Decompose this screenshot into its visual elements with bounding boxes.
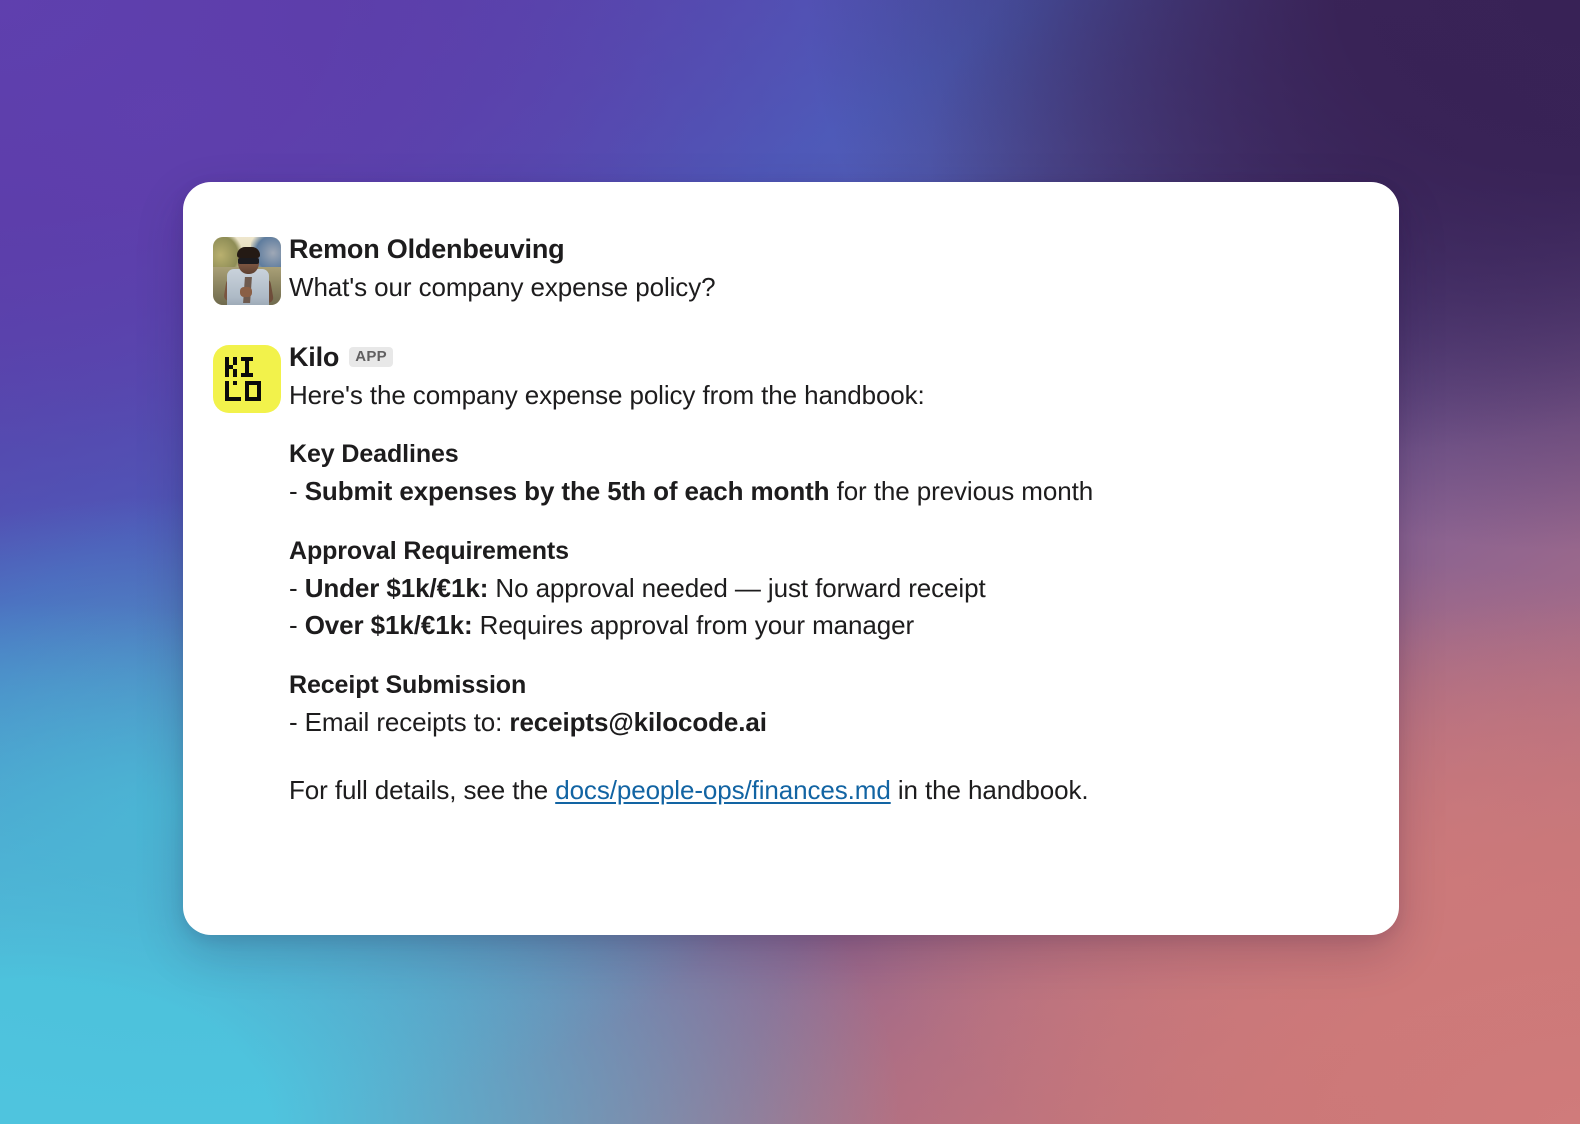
message-text: What's our company expense policy? xyxy=(289,269,1343,306)
message-user: Remon Oldenbeuving What's our company ex… xyxy=(213,234,1343,306)
footer-text-before: For full details, see the xyxy=(289,775,555,805)
section-receipt-submission: Receipt Submission - Email receipts to: … xyxy=(289,671,1343,742)
bullet-item: - Over $1k/€1k: Requires approval from y… xyxy=(289,607,1343,645)
section-key-deadlines: Key Deadlines - Submit expenses by the 5… xyxy=(289,440,1343,511)
bullet-strong: Submit expenses by the 5th of each month xyxy=(305,476,830,506)
bullet-item: - Email receipts to: receipts@kilocode.a… xyxy=(289,704,1343,742)
bullet-item: - Submit expenses by the 5th of each mon… xyxy=(289,473,1343,511)
avatar-photo-hand xyxy=(240,287,252,297)
sender-row: Kilo APP xyxy=(289,342,1343,373)
bullet-rest: Requires approval from your manager xyxy=(473,610,915,640)
bullet-rest: No approval needed — just forward receip… xyxy=(488,573,985,603)
footer-text-after: in the handbook. xyxy=(891,775,1089,805)
section-heading: Receipt Submission xyxy=(289,671,1343,700)
footer-line: For full details, see the docs/people-op… xyxy=(289,772,1343,809)
slack-message-card: Remon Oldenbeuving What's our company ex… xyxy=(183,182,1399,935)
section-heading: Key Deadlines xyxy=(289,440,1343,469)
kilo-logo-icon[interactable] xyxy=(213,345,281,413)
bullet-item: - Under $1k/€1k: No approval needed — ju… xyxy=(289,570,1343,608)
app-badge: APP xyxy=(349,347,393,367)
receipt-email: receipts@kilocode.ai xyxy=(509,707,766,737)
avatar[interactable] xyxy=(213,237,281,305)
bullet-rest: for the previous month xyxy=(829,476,1093,506)
section-heading: Approval Requirements xyxy=(289,537,1343,566)
avatar-column xyxy=(213,234,289,305)
message-body: Remon Oldenbeuving What's our company ex… xyxy=(289,234,1343,306)
avatar-photo-hair xyxy=(237,247,260,258)
response-intro: Here's the company expense policy from t… xyxy=(289,377,1343,414)
section-approval-requirements: Approval Requirements - Under $1k/€1k: N… xyxy=(289,537,1343,645)
bullet-lead: Email receipts to: xyxy=(298,707,510,737)
bullet-strong: Under $1k/€1k: xyxy=(305,573,489,603)
bullet-dash: - xyxy=(289,707,298,737)
bullet-dash: - xyxy=(289,610,298,640)
bullet-dash: - xyxy=(289,573,298,603)
message-bot: Kilo APP Here's the company expense poli… xyxy=(213,342,1343,809)
avatar-column xyxy=(213,342,289,413)
bullet-strong: Over $1k/€1k: xyxy=(305,610,473,640)
sunglasses-icon xyxy=(238,258,259,264)
message-body: Kilo APP Here's the company expense poli… xyxy=(289,342,1343,809)
sender-row: Remon Oldenbeuving xyxy=(289,234,1343,265)
bullet-dash: - xyxy=(289,476,298,506)
sender-name[interactable]: Kilo xyxy=(289,342,339,373)
sender-name[interactable]: Remon Oldenbeuving xyxy=(289,234,564,265)
handbook-doc-link[interactable]: docs/people-ops/finances.md xyxy=(555,775,891,805)
